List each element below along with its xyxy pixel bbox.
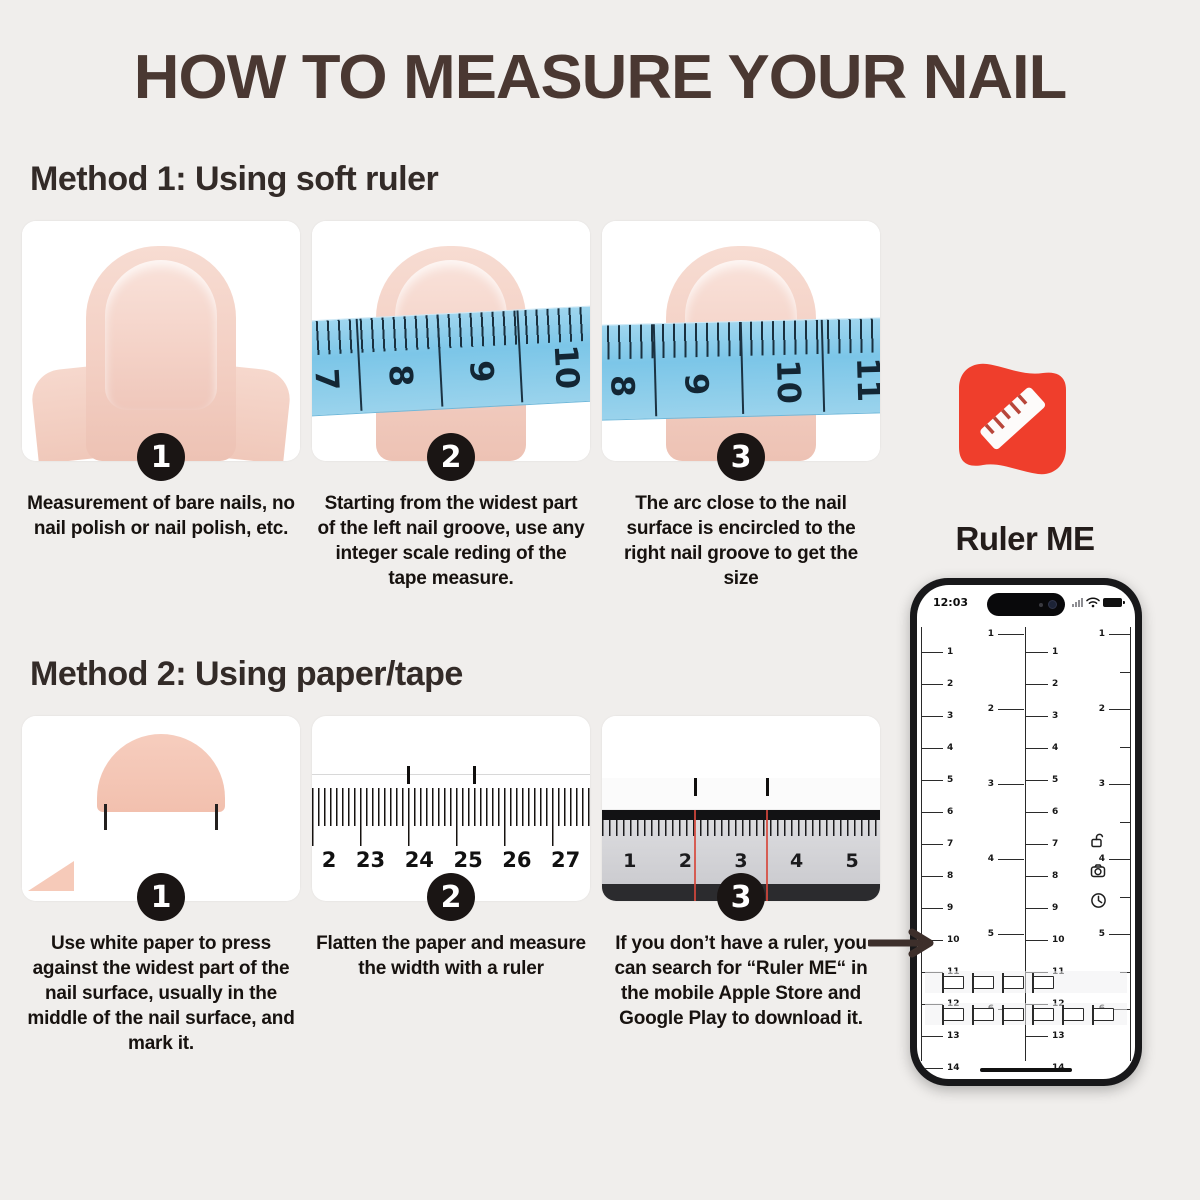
step-badge: 1	[137, 433, 185, 481]
ruler-minor-tick	[1120, 822, 1131, 823]
ruler-label: 5	[947, 775, 953, 785]
ruler-tick	[998, 709, 1024, 710]
ruler-tick	[998, 934, 1024, 935]
status-bar-time: 12:03	[933, 596, 968, 609]
left-ruler: 1 2 3 4 5 6 7 8 9 10 11	[921, 627, 969, 1061]
ruler-label: 2	[988, 704, 994, 714]
ruler-number: 1	[623, 850, 636, 872]
phone-bezel	[602, 810, 880, 820]
step-caption: Starting from the widest part of the lef…	[312, 491, 590, 591]
measure-box[interactable]	[1003, 1008, 1024, 1021]
method-1-step-3: 8 9 10 11 3 The arc close to the nail su…	[602, 221, 880, 591]
nail-shape	[105, 260, 217, 410]
measure-box[interactable]	[973, 976, 994, 989]
ruler-label: 2	[947, 679, 953, 689]
clock-icon[interactable]	[1090, 892, 1107, 909]
ruler-label: 10	[1052, 935, 1065, 945]
ruler-tick	[921, 812, 943, 813]
method-1-heading: Method 1: Using soft ruler	[30, 160, 900, 199]
nail-through-paper	[97, 734, 225, 812]
ruler-label: 9	[1052, 903, 1058, 913]
measure-box[interactable]	[943, 976, 964, 989]
pen-mark-right	[766, 778, 769, 796]
step-badge: 1	[137, 873, 185, 921]
pen-mark-left	[694, 778, 697, 796]
ruler-tick	[921, 716, 943, 717]
measure-box[interactable]	[943, 1008, 964, 1021]
step-caption: If you don’t have a ruler, you can searc…	[602, 931, 880, 1031]
tape-number: 8	[603, 374, 642, 397]
step-caption: Flatten the paper and measure the width …	[312, 931, 590, 981]
ruler-tick	[1026, 908, 1048, 909]
phone-screen[interactable]: 12:03 1 2	[917, 585, 1135, 1079]
method-1-step-2: 7 8 9 10 2 Starting from the widest part…	[312, 221, 590, 591]
measure-box[interactable]	[1033, 976, 1054, 989]
ruler-minor-tick	[1120, 747, 1131, 748]
pen-mark-left	[104, 804, 107, 830]
measure-box[interactable]	[973, 1008, 994, 1021]
ruler-tick	[1026, 940, 1048, 941]
ruler-label: 8	[947, 871, 953, 881]
tape-number: 8	[381, 364, 420, 388]
ruler-tick	[998, 859, 1024, 860]
tape-number: 11	[849, 357, 880, 403]
phone-ruler-number-row: 1 2 3 4 5	[602, 850, 880, 872]
ruler-number: 23	[356, 848, 385, 872]
pen-mark-right	[473, 766, 476, 784]
ruler-tick	[1026, 844, 1048, 845]
ruler-label: 7	[947, 839, 953, 849]
blue-tape-measure-on-thumb-photo: 7 8 9 10	[312, 221, 590, 461]
ruler-label: 3	[947, 711, 953, 721]
ruler-label: 14	[947, 1063, 960, 1073]
center-ruler-inches: 1 2 3 4 5 6	[976, 627, 1024, 1061]
paper-edge	[312, 774, 590, 775]
ruler-minor-tick	[1120, 672, 1131, 673]
ruler-spine	[1130, 627, 1131, 1061]
sensor-dot	[1039, 603, 1043, 607]
ruler-tick	[1026, 780, 1048, 781]
ruler-number: 27	[551, 848, 580, 872]
status-bar-indicators	[1072, 597, 1122, 608]
tape-measure: 8 9 10 11	[602, 317, 880, 421]
unlock-icon[interactable]	[1090, 832, 1107, 849]
thumb-illustration	[22, 221, 300, 461]
ruler-minor-tick	[1120, 897, 1131, 898]
dynamic-island	[987, 593, 1065, 616]
ruler-number: 5	[846, 850, 859, 872]
camera-icon[interactable]	[1090, 862, 1107, 879]
ruler-tick	[1109, 634, 1131, 635]
measure-box[interactable]	[1033, 1008, 1054, 1021]
ruler-number: 2	[679, 850, 692, 872]
ruler-tick	[921, 1068, 943, 1069]
pen-mark-right	[215, 804, 218, 830]
step-caption: Measurement of bare nails, no nail polis…	[22, 491, 300, 541]
ruler-label: 5	[988, 929, 994, 939]
method-2-block: Method 2: Using paper/tape 1 Use white p…	[0, 655, 900, 1056]
cellular-bars-icon	[1072, 598, 1083, 607]
app-promo-column: Ruler ME 12:03 1	[900, 0, 1200, 1200]
step-badge: 2	[427, 873, 475, 921]
method-1-block: Method 1: Using soft ruler 1 Measurement…	[0, 160, 900, 591]
ruler-tick	[1109, 784, 1131, 785]
ruler-tick	[1109, 859, 1131, 860]
measure-box[interactable]	[1063, 1008, 1084, 1021]
methods-container: Method 1: Using soft ruler 1 Measurement…	[0, 160, 900, 1200]
ruler-label: 3	[1052, 711, 1058, 721]
blue-tape-wrapped-on-thumb-photo: 8 9 10 11	[602, 221, 880, 461]
ruler-label: 4	[947, 743, 953, 753]
ruler-label: 1	[947, 647, 953, 657]
wifi-icon	[1086, 597, 1100, 608]
ruler-number: 2	[322, 848, 337, 872]
tape-number: 9	[677, 373, 716, 396]
finger-corner	[28, 861, 74, 891]
thumb-shape	[86, 246, 236, 461]
home-indicator[interactable]	[980, 1068, 1072, 1072]
ruler-label: 6	[947, 807, 953, 817]
tape-number: 9	[462, 359, 501, 383]
step-badge: 3	[717, 873, 765, 921]
app-name-label: Ruler ME	[900, 520, 1150, 558]
ruler-number: 4	[790, 850, 803, 872]
ruler-label: 8	[1052, 871, 1058, 881]
bare-thumb-nail-photo	[22, 221, 300, 461]
tape-number: 10	[769, 359, 808, 405]
ruler-label: 4	[1052, 743, 1058, 753]
ruler-tick	[1026, 748, 1048, 749]
method-2-heading: Method 2: Using paper/tape	[30, 655, 900, 694]
ruler-number: 25	[453, 848, 482, 872]
ruler-number: 26	[502, 848, 531, 872]
ruler-tick	[1026, 812, 1048, 813]
ruler-label: 10	[947, 935, 960, 945]
phone-ruler-ticks	[602, 820, 880, 836]
ruler-tick	[921, 652, 943, 653]
ruler-number-row: 2 23 24 25 26 27	[312, 848, 590, 872]
ruler-tick	[921, 844, 943, 845]
ruler-label: 5	[1099, 929, 1105, 939]
ruler-tick	[1026, 652, 1048, 653]
ruler-label: 13	[947, 1031, 960, 1041]
ruler-label: 3	[988, 779, 994, 789]
battery-icon	[1103, 598, 1122, 607]
ruler-number: 24	[405, 848, 434, 872]
ruler-label: 1	[1052, 647, 1058, 657]
measurement-widget-row[interactable]	[925, 971, 1127, 993]
method-2-cards: 1 Use white paper to press against the w…	[22, 716, 900, 1056]
measure-box[interactable]	[1093, 1008, 1114, 1021]
step-badge: 2	[427, 433, 475, 481]
step-badge: 3	[717, 433, 765, 481]
ruler-label: 1	[1099, 629, 1105, 639]
tape-number: 10	[547, 344, 587, 390]
ruler-tick	[1026, 876, 1048, 877]
right-arrow-icon	[868, 928, 940, 958]
ruler-me-app-icon[interactable]	[945, 352, 1080, 487]
pen-mark-left	[407, 766, 410, 784]
ruler-label: 5	[1052, 775, 1058, 785]
ruler-label: 7	[1052, 839, 1058, 849]
center-ruler-right-scale: 1 2 3 4 5 6 7 8 9 10 11	[1026, 627, 1074, 1061]
measure-guide-right	[766, 810, 768, 901]
ruler-tick	[921, 908, 943, 909]
front-camera-icon	[1048, 600, 1057, 609]
method-1-cards: 1 Measurement of bare nails, no nail pol…	[22, 221, 900, 591]
method-2-step-2: 2 23 24 25 26 27 2 Flatten the paper and…	[312, 716, 590, 1056]
tape-number: 7	[312, 367, 346, 391]
ruler-tick	[1109, 934, 1131, 935]
ruler-tick	[921, 684, 943, 685]
paper-lower	[602, 778, 880, 810]
ruler-number: 3	[734, 850, 747, 872]
ruler-label: 1	[988, 629, 994, 639]
method-2-step-3: 1 2 3 4 5 3 If you don’t have a ruler, y…	[602, 716, 880, 1056]
ruler-tick	[921, 748, 943, 749]
ruler-label: 3	[1099, 779, 1105, 789]
ruler-label: 9	[947, 903, 953, 913]
ruler-label: 6	[1052, 807, 1058, 817]
ruler-tick	[921, 780, 943, 781]
ruler-label: 13	[1052, 1031, 1065, 1041]
measurement-widget-row[interactable]	[925, 1003, 1127, 1025]
step-caption: The arc close to the nail surface is enc…	[602, 491, 880, 591]
paper-strip	[602, 716, 880, 778]
method-2-step-1: 1 Use white paper to press against the w…	[22, 716, 300, 1056]
ruler-tick	[1026, 684, 1048, 685]
tape-measure: 7 8 9 10	[312, 305, 590, 417]
ruler-label: 4	[988, 854, 994, 864]
ruler-tick	[1026, 1036, 1048, 1037]
ruler-label: 2	[1052, 679, 1058, 689]
step-caption: Use white paper to press against the wid…	[22, 931, 300, 1056]
measure-box[interactable]	[1003, 976, 1024, 989]
ruler-major-ticks	[312, 788, 590, 846]
ruler-tick	[998, 634, 1024, 635]
phone-mockup: 12:03 1 2	[910, 578, 1142, 1086]
ruler-tick	[1026, 716, 1048, 717]
ruler-label: 2	[1099, 704, 1105, 714]
ruler-tick	[921, 1036, 943, 1037]
phone-side-icons[interactable]	[1090, 832, 1107, 909]
ruler-tick	[921, 876, 943, 877]
method-1-step-1: 1 Measurement of bare nails, no nail pol…	[22, 221, 300, 591]
ruler-tick	[998, 784, 1024, 785]
measure-guide-left	[694, 810, 696, 901]
ruler-tick	[1109, 709, 1131, 710]
